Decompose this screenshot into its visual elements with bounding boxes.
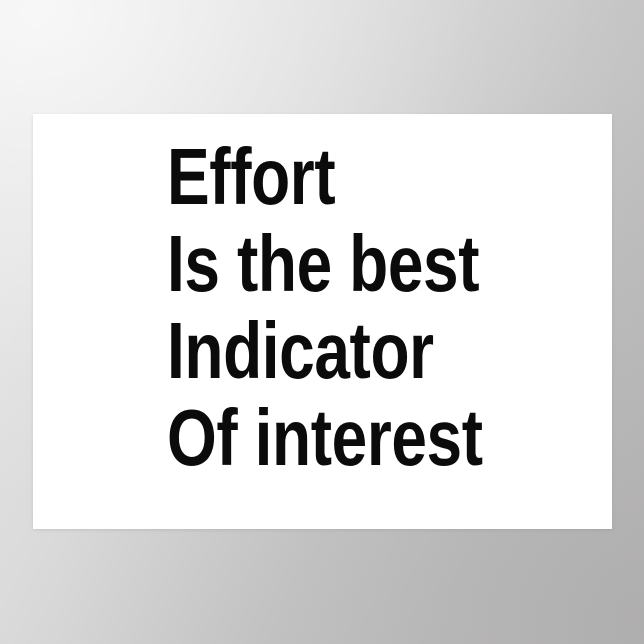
poster-line-3: Indicator [167,307,511,394]
poster-image-canvas: Effort Is the best Indicator Of interest [0,0,644,644]
poster-line-4: Of interest [167,394,511,481]
poster-line-1: Effort [167,133,511,220]
poster-text-block: Effort Is the best Indicator Of interest [167,133,597,481]
poster-sheet: Effort Is the best Indicator Of interest [33,114,612,529]
poster-line-2: Is the best [167,220,511,307]
